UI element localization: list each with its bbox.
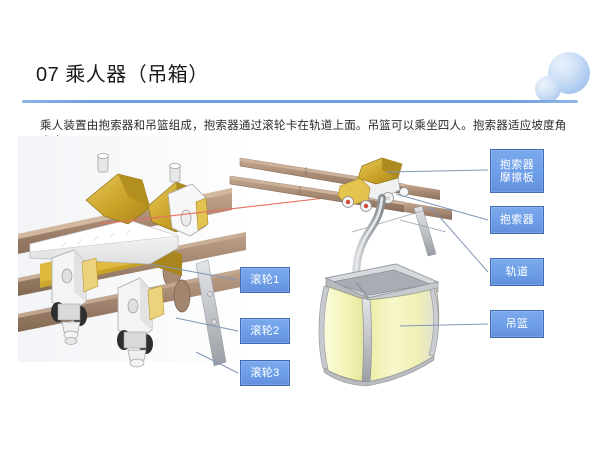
callout-rail-label: 轨道 — [506, 266, 529, 279]
callout-friction-plate-line2: 摩擦板 — [500, 172, 534, 185]
title-divider — [22, 100, 578, 103]
callout-roller-2[interactable]: 滚轮2 — [240, 318, 290, 344]
leader-rail — [430, 206, 488, 272]
cabin-body — [319, 286, 439, 386]
callout-roller-2-label: 滚轮2 — [250, 325, 279, 338]
callout-roller-1-label: 滚轮1 — [250, 274, 279, 287]
decorative-circle-small — [535, 76, 561, 102]
callout-friction-plate[interactable]: 抱索器 摩擦板 — [490, 149, 544, 193]
callout-cabin-label: 吊篮 — [506, 318, 529, 331]
callout-gripper[interactable]: 抱索器 — [490, 206, 544, 234]
page-title: 07 乘人器（吊箱） — [36, 58, 209, 87]
callout-roller-3[interactable]: 滚轮3 — [240, 360, 290, 386]
callout-friction-plate-line1: 抱索器 — [500, 159, 534, 172]
callout-roller-3-label: 滚轮3 — [250, 367, 279, 380]
callout-roller-1[interactable]: 滚轮1 — [240, 267, 290, 293]
slide-root: 07 乘人器（吊箱） 乘人装置由抱索器和吊篮组成，抱索器通过滚轮卡在轨道上面。吊… — [0, 0, 600, 450]
callout-gripper-label: 抱索器 — [500, 214, 534, 227]
callout-rail[interactable]: 轨道 — [490, 258, 544, 286]
callout-cabin[interactable]: 吊篮 — [490, 310, 544, 338]
leader-friction-plate — [386, 170, 488, 172]
